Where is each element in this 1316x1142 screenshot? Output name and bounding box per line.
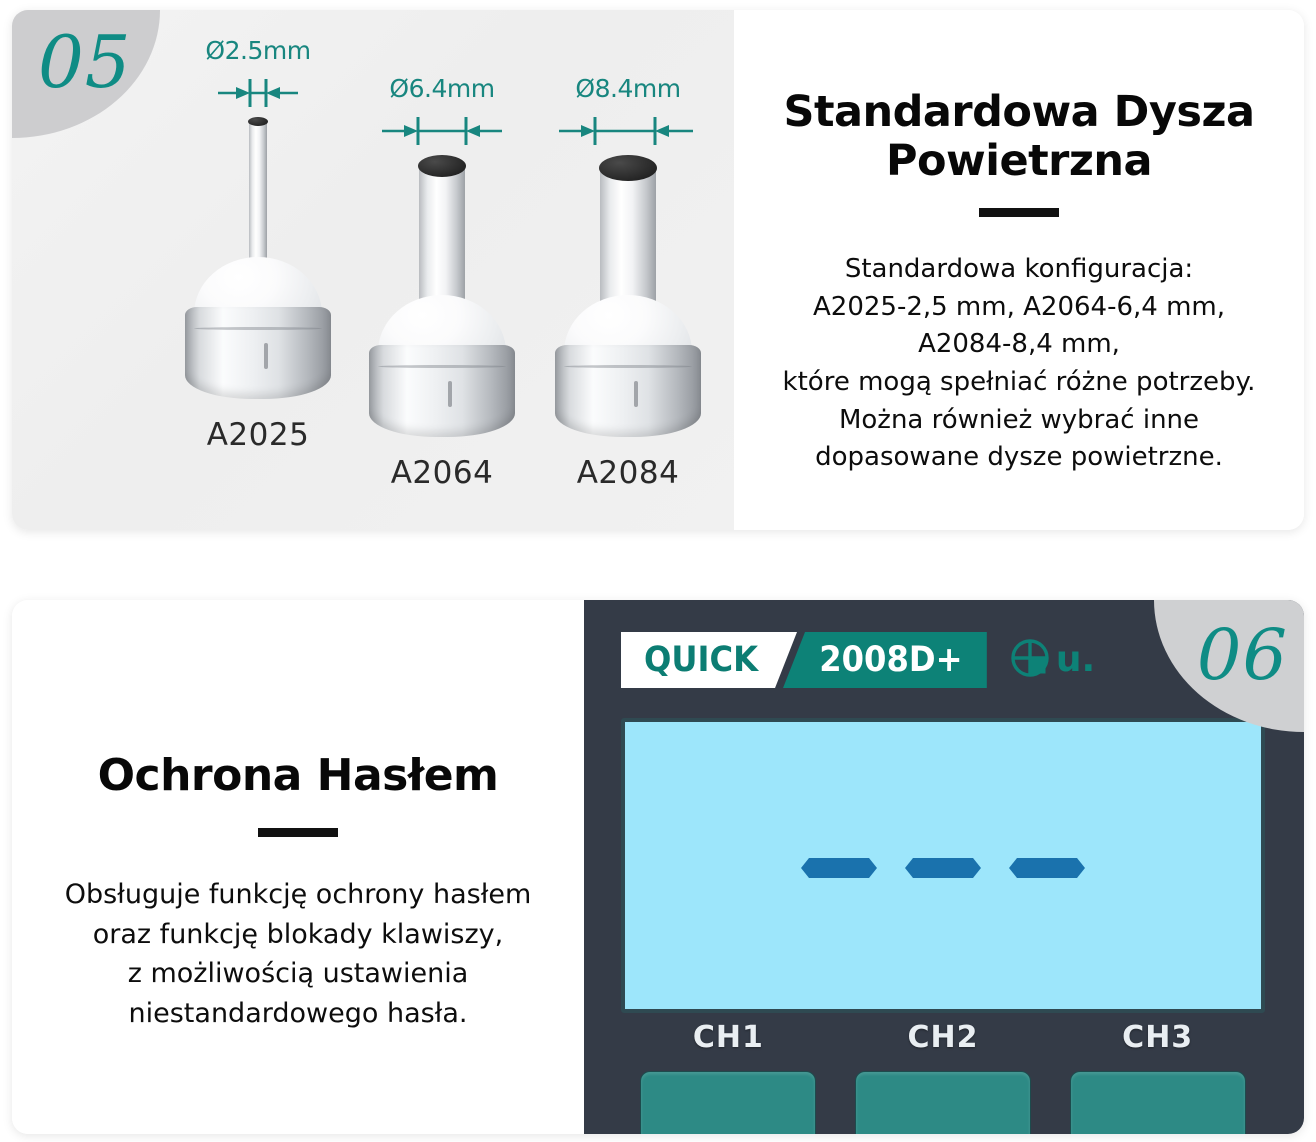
nozzle-drawing-a2025 [158, 111, 358, 411]
nozzle-part-number: A2025 [158, 417, 358, 453]
card1-divider [979, 208, 1059, 217]
product-feature-page: 05 Ø2.5mm [0, 0, 1316, 1142]
card1-headline-line-1: Standardowa Dysza [783, 87, 1254, 137]
model-name-text: 2008D+ [819, 640, 962, 680]
card2-body-line: z możliwością ustawienia [42, 954, 554, 993]
card1-body-line: które mogą spełniać różne potrzeby. [768, 364, 1270, 402]
channel-ch1[interactable]: CH1 [621, 1020, 836, 1134]
lcd-password-placeholder [625, 858, 1261, 878]
manufacturer-mark: u. [1009, 632, 1095, 688]
lcd-dash-segment [801, 858, 877, 878]
dimension-arrow-icon [528, 113, 728, 147]
lcd-dash-segment [1009, 858, 1085, 878]
channel-label: CH3 [1050, 1020, 1265, 1055]
card2-headline: Ochrona Hasłem [42, 752, 554, 800]
channel-ch2[interactable]: CH2 [836, 1020, 1051, 1134]
channel-button[interactable] [855, 1071, 1031, 1134]
card1-body-line: A2025-2,5 mm, A2064-6,4 mm, [768, 289, 1270, 327]
step-badge-05-number: 05 [38, 26, 132, 98]
nozzle-dimension-label: Ø6.4mm [342, 76, 542, 101]
card2-body-line: oraz funkcję blokady klawiszy, [42, 915, 554, 954]
device-front-panel: 06 QUICK 2008D+ [584, 600, 1304, 1134]
nozzle-dimension-label: Ø8.4mm [528, 76, 728, 101]
nozzle-drawing-a2064 [342, 149, 542, 449]
nozzle-part-number: A2084 [528, 455, 728, 491]
nozzle-drawing-a2084 [528, 149, 728, 449]
manufacturer-mark-text: u. [1056, 642, 1095, 678]
device-lcd-screen [621, 718, 1265, 1013]
brand-name-text: QUICK [644, 640, 758, 680]
nozzle-text-panel: Standardowa Dysza Powietrzna Standardowa… [734, 10, 1304, 530]
nozzle-illustration-panel: 05 Ø2.5mm [12, 10, 734, 530]
feature-card-nozzle: 05 Ø2.5mm [12, 10, 1304, 530]
dimension-arrow-icon [342, 113, 542, 147]
brand-name-plate: QUICK [621, 632, 797, 688]
nozzle-item-a2084: Ø8.4mm [528, 76, 728, 491]
channel-button[interactable] [640, 1071, 816, 1134]
step-badge-06: 06 [1154, 600, 1304, 732]
card1-body-line: Standardowa konfiguracja: [768, 251, 1270, 289]
card1-body-line: Można również wybrać inne [768, 402, 1270, 440]
channel-label: CH1 [621, 1020, 836, 1055]
card1-body-copy: Standardowa konfiguracja: A2025-2,5 mm, … [768, 251, 1270, 477]
device-brand-logo: QUICK 2008D+ u. [621, 632, 1095, 688]
dimension-arrow-icon [158, 75, 358, 109]
channel-ch3[interactable]: CH3 [1050, 1020, 1265, 1134]
feature-card-password: Ochrona Hasłem Obsługuje funkcję ochrony… [12, 600, 1304, 1134]
card2-body-copy: Obsługuje funkcję ochrony hasłem oraz fu… [42, 875, 554, 1033]
card2-body-line: niestandardowego hasła. [42, 994, 554, 1033]
password-text-panel: Ochrona Hasłem Obsługuje funkcję ochrony… [12, 600, 584, 1134]
nozzle-part-number: A2064 [342, 455, 542, 491]
card1-headline-line-2: Powietrzna [886, 136, 1152, 186]
nozzle-item-a2025: Ø2.5mm [158, 38, 358, 453]
card1-body-line: dopasowane dysze powietrzne. [768, 439, 1270, 477]
card1-body-line: A2084-8,4 mm, [768, 326, 1270, 364]
step-badge-06-number: 06 [1197, 620, 1288, 690]
device-channel-row: CH1 CH2 CH3 [621, 1020, 1265, 1134]
channel-button[interactable] [1070, 1071, 1246, 1134]
model-name-plate: 2008D+ [783, 632, 987, 688]
card2-divider [258, 828, 338, 837]
nozzle-item-a2064: Ø6.4mm [342, 76, 542, 491]
lcd-dash-segment [905, 858, 981, 878]
nozzle-dimension-label: Ø2.5mm [158, 38, 358, 63]
globe-quadrant-icon [1009, 637, 1051, 684]
channel-label: CH2 [836, 1020, 1051, 1055]
card2-body-line: Obsługuje funkcję ochrony hasłem [42, 875, 554, 914]
card1-headline: Standardowa Dysza Powietrzna [768, 88, 1270, 186]
